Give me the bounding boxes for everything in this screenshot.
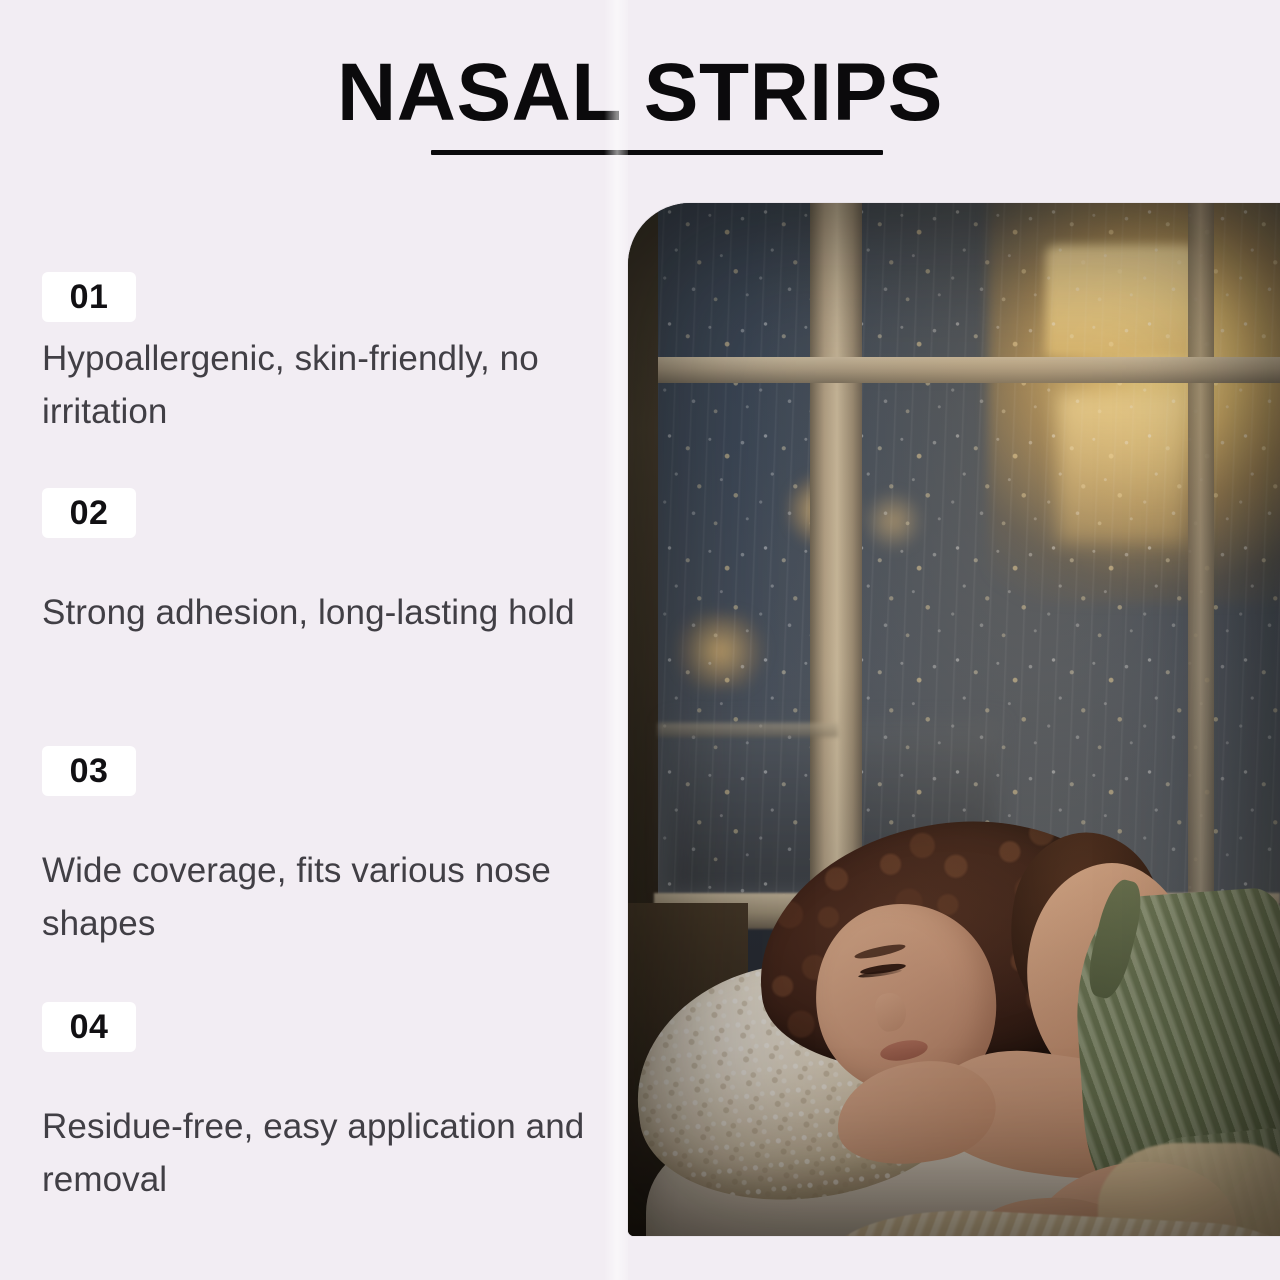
- feature-number-badge-04: 04: [42, 1002, 136, 1052]
- title-underline: [431, 150, 883, 155]
- feature-item-02: 02 Strong adhesion, long-lasting hold: [42, 488, 602, 639]
- window-muntin-horizontal-lower: [658, 723, 838, 737]
- feature-text-02: Strong adhesion, long-lasting hold: [42, 586, 597, 639]
- product-lifestyle-photo: [628, 203, 1280, 1236]
- poster-canvas: NASAL STRIPS 01 Hypoallergenic, skin-fri…: [0, 0, 1280, 1280]
- feature-number-badge-03: 03: [42, 746, 136, 796]
- rain-droplets: [658, 203, 1280, 903]
- window-mullion-vertical: [810, 203, 862, 903]
- feature-item-03: 03 Wide coverage, fits various nose shap…: [42, 746, 602, 950]
- feature-text-04: Residue-free, easy application and remov…: [42, 1100, 597, 1206]
- feature-number-badge-02: 02: [42, 488, 136, 538]
- feature-number-badge-01: 01: [42, 272, 136, 322]
- feature-text-01: Hypoallergenic, skin-friendly, no irrita…: [42, 332, 597, 438]
- feature-item-04: 04 Residue-free, easy application and re…: [42, 1002, 602, 1206]
- feature-item-01: 01 Hypoallergenic, skin-friendly, no irr…: [42, 272, 602, 438]
- feature-text-03: Wide coverage, fits various nose shapes: [42, 844, 597, 950]
- window-mullion-vertical-right: [1188, 203, 1214, 903]
- window-muntin-horizontal: [658, 357, 1280, 383]
- panel-seam: [604, 0, 628, 1280]
- feature-list: 01 Hypoallergenic, skin-friendly, no irr…: [0, 258, 610, 1248]
- photo-inner: [628, 203, 1280, 1236]
- header: NASAL STRIPS: [0, 0, 1280, 185]
- rainy-window-glass: [658, 203, 1280, 903]
- page-title: NASAL STRIPS: [0, 52, 1280, 134]
